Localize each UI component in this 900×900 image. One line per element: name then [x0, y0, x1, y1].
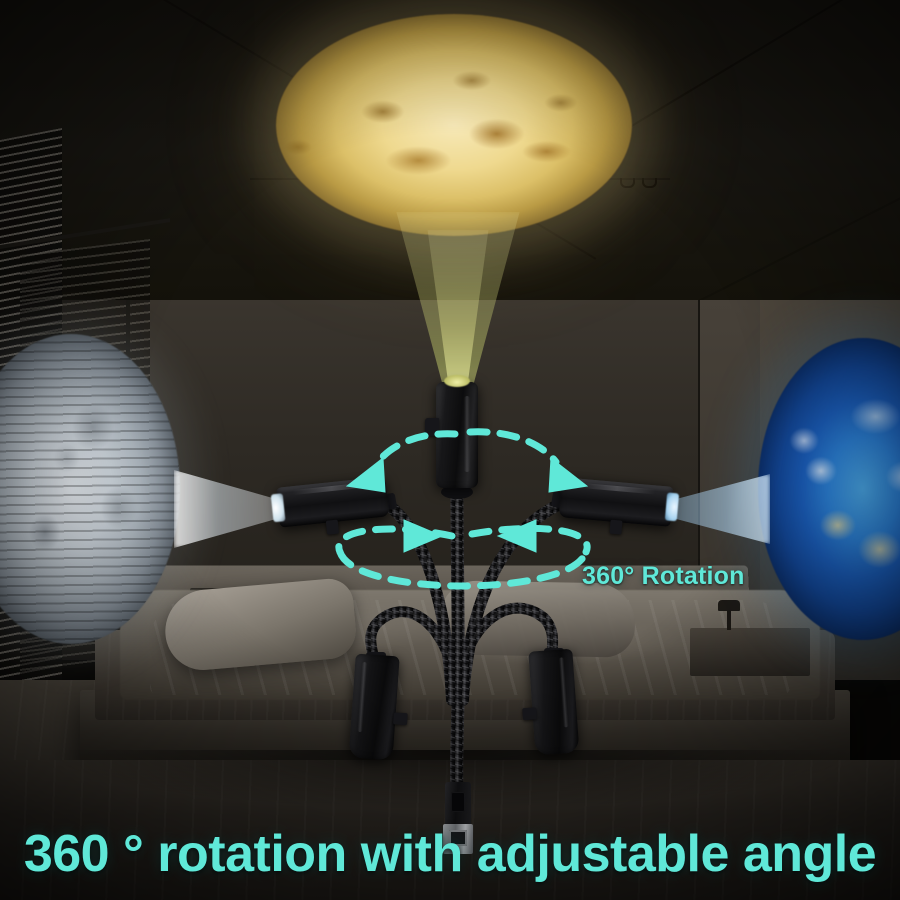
caption-text: 360 ° rotation with adjustable angle [0, 824, 900, 884]
dashed-arc-upper-left [378, 434, 455, 462]
dashed-arc-upper-right [470, 432, 556, 462]
rotation-label: 360° Rotation [582, 562, 745, 591]
arrow-lower-right-icon [498, 520, 536, 552]
arrow-lower-left-icon [404, 520, 442, 552]
dashed-ellipse-left [339, 529, 452, 552]
arrow-upper-right-icon [549, 458, 587, 492]
product-marketing-image: 360° Rotation 360 ° rotation with adjust… [0, 0, 900, 900]
dashed-ellipse-front [340, 552, 586, 586]
arrow-upper-left-icon [347, 458, 385, 492]
rotation-arrows-overlay [0, 0, 900, 900]
